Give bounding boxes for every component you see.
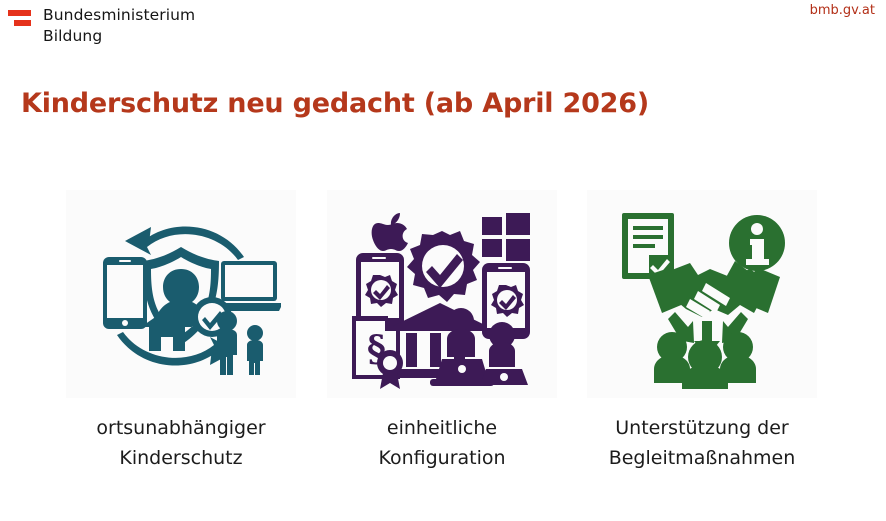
ministry-name-line2: Bildung — [43, 26, 195, 47]
card-caption: einheitliche Konfiguration — [317, 413, 567, 473]
slide-header: Bundesministerium Bildung bmb.gv.at — [0, 0, 886, 56]
card-caption: ortsunabhängiger Kinderschutz — [56, 413, 306, 473]
ministry-name-line1: Bundesministerium — [43, 6, 195, 24]
card-figure — [587, 190, 817, 398]
gear-check-icon — [407, 231, 480, 302]
cards-row: ortsunabhängiger Kinderschutz — [0, 190, 886, 473]
shield-child-protection-icon — [81, 199, 281, 389]
site-link[interactable]: bmb.gv.at — [810, 2, 875, 20]
card-figure — [66, 190, 296, 398]
gear-devices-configuration-icon: § — [342, 199, 542, 389]
apple-logo-icon — [372, 213, 408, 251]
card-ortsunabhaengiger-kinderschutz: ortsunabhängiger Kinderschutz — [66, 190, 296, 473]
handshake-support-group-icon — [602, 199, 802, 389]
windows-logo-icon — [482, 213, 530, 261]
austria-flag-bars-icon — [8, 7, 32, 29]
card-unterstuetzung-begleitmassnahmen: Unterstützung der Begleitmaßnahmen — [587, 190, 817, 473]
info-bubble-icon — [724, 215, 785, 281]
people-group-icon — [654, 332, 756, 389]
ministry-name: Bundesministerium Bildung — [43, 5, 195, 47]
card-figure: § — [327, 190, 557, 398]
card-einheitliche-konfiguration: § — [327, 190, 557, 473]
ministry-brand: Bundesministerium Bildung — [8, 5, 195, 47]
page-title: Kinderschutz neu gedacht (ab April 2026) — [21, 86, 649, 122]
card-caption: Unterstützung der Begleitmaßnahmen — [577, 413, 827, 473]
handshake-icon — [648, 263, 780, 319]
